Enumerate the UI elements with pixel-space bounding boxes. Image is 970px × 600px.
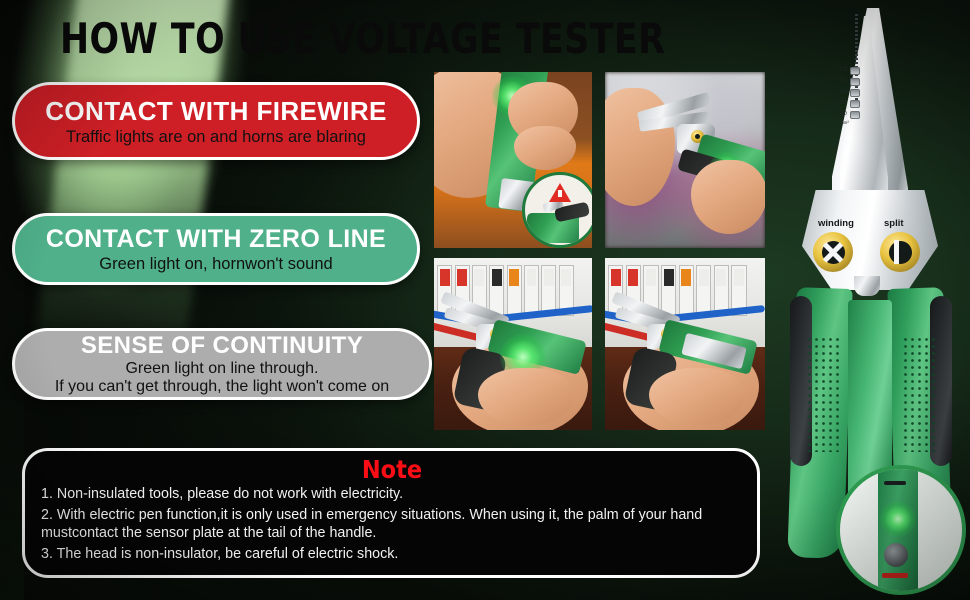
winding-ring-icon bbox=[813, 232, 853, 272]
page-title: HOW TO USE VOLTAGE TESTER bbox=[60, 14, 665, 63]
wire-gauge-label: 4.0 bbox=[840, 111, 847, 117]
note-item: 3. The head is non-insulator, be careful… bbox=[41, 545, 743, 564]
callout-firewire-subtitle: Traffic lights are on and horns are blar… bbox=[66, 128, 366, 147]
photo-top-left bbox=[434, 72, 592, 248]
callout-continuity: SENSE OF CONTINUITY Green light on line … bbox=[12, 328, 432, 400]
inset-led-indicator bbox=[880, 501, 916, 537]
wire-gauge-hole bbox=[850, 100, 860, 108]
callout-zero-line-heading: CONTACT WITH ZERO LINE bbox=[46, 225, 386, 254]
wire-gauge-label: 1.5 bbox=[840, 78, 847, 84]
wire-gauge-hole bbox=[850, 111, 860, 119]
inset-red-component bbox=[882, 573, 908, 578]
photo-bottom-right bbox=[605, 258, 765, 430]
note-box: Note 1. Non-insulated tools, please do n… bbox=[22, 448, 760, 578]
callout-continuity-subtitle-line1: Green light on line through. bbox=[125, 360, 318, 378]
split-ring-icon bbox=[880, 232, 920, 272]
callout-firewire: CONTACT WITH FIREWIRE Traffic lights are… bbox=[12, 82, 420, 160]
plier-joint bbox=[854, 276, 880, 296]
warning-triangle-icon bbox=[549, 183, 571, 202]
poster-root: HOW TO USE VOLTAGE TESTER CONTACT WITH F… bbox=[0, 0, 970, 600]
wire-gauge-unit: mm² bbox=[840, 120, 849, 125]
zoom-inset-circle bbox=[836, 465, 966, 595]
note-item: 1. Non-insulated tools, please do not wo… bbox=[41, 485, 743, 504]
photo-top-right bbox=[605, 72, 765, 248]
grip-dot-texture-right bbox=[902, 336, 936, 452]
winding-label: winding bbox=[818, 218, 854, 229]
callout-zero-line-subtitle: Green light on, hornwon't sound bbox=[99, 255, 332, 274]
warning-inset-circle bbox=[522, 172, 592, 248]
note-item: 2. With electric pen function,it is only… bbox=[41, 506, 743, 543]
wire-gauge-label: 1.2 bbox=[840, 67, 847, 73]
hand-fingers bbox=[691, 160, 765, 234]
inset-wire bbox=[884, 481, 906, 485]
callout-continuity-subtitle-line2: If you can't get through, the light won'… bbox=[55, 378, 389, 396]
inset-buzzer bbox=[884, 543, 908, 567]
note-title: Note bbox=[41, 457, 743, 482]
product-image-pliers: 1.2 1.5 2.0 2.5 4.0 mm² winding split bbox=[780, 0, 970, 600]
split-label: split bbox=[884, 218, 904, 229]
grip-dot-texture-left bbox=[806, 336, 840, 452]
callout-firewire-heading: CONTACT WITH FIREWIRE bbox=[45, 96, 387, 127]
photo-bottom-left bbox=[434, 258, 592, 430]
wire-gauge-hole bbox=[850, 67, 860, 75]
wire-gauge-label: 2.0 bbox=[840, 89, 847, 95]
callout-zero-line: CONTACT WITH ZERO LINE Green light on, h… bbox=[12, 213, 420, 285]
callout-continuity-heading: SENSE OF CONTINUITY bbox=[81, 332, 363, 360]
wire-gauge-label: 2.5 bbox=[840, 100, 847, 106]
wire-gauge-hole bbox=[850, 78, 860, 86]
wire-gauge-hole bbox=[850, 89, 860, 97]
